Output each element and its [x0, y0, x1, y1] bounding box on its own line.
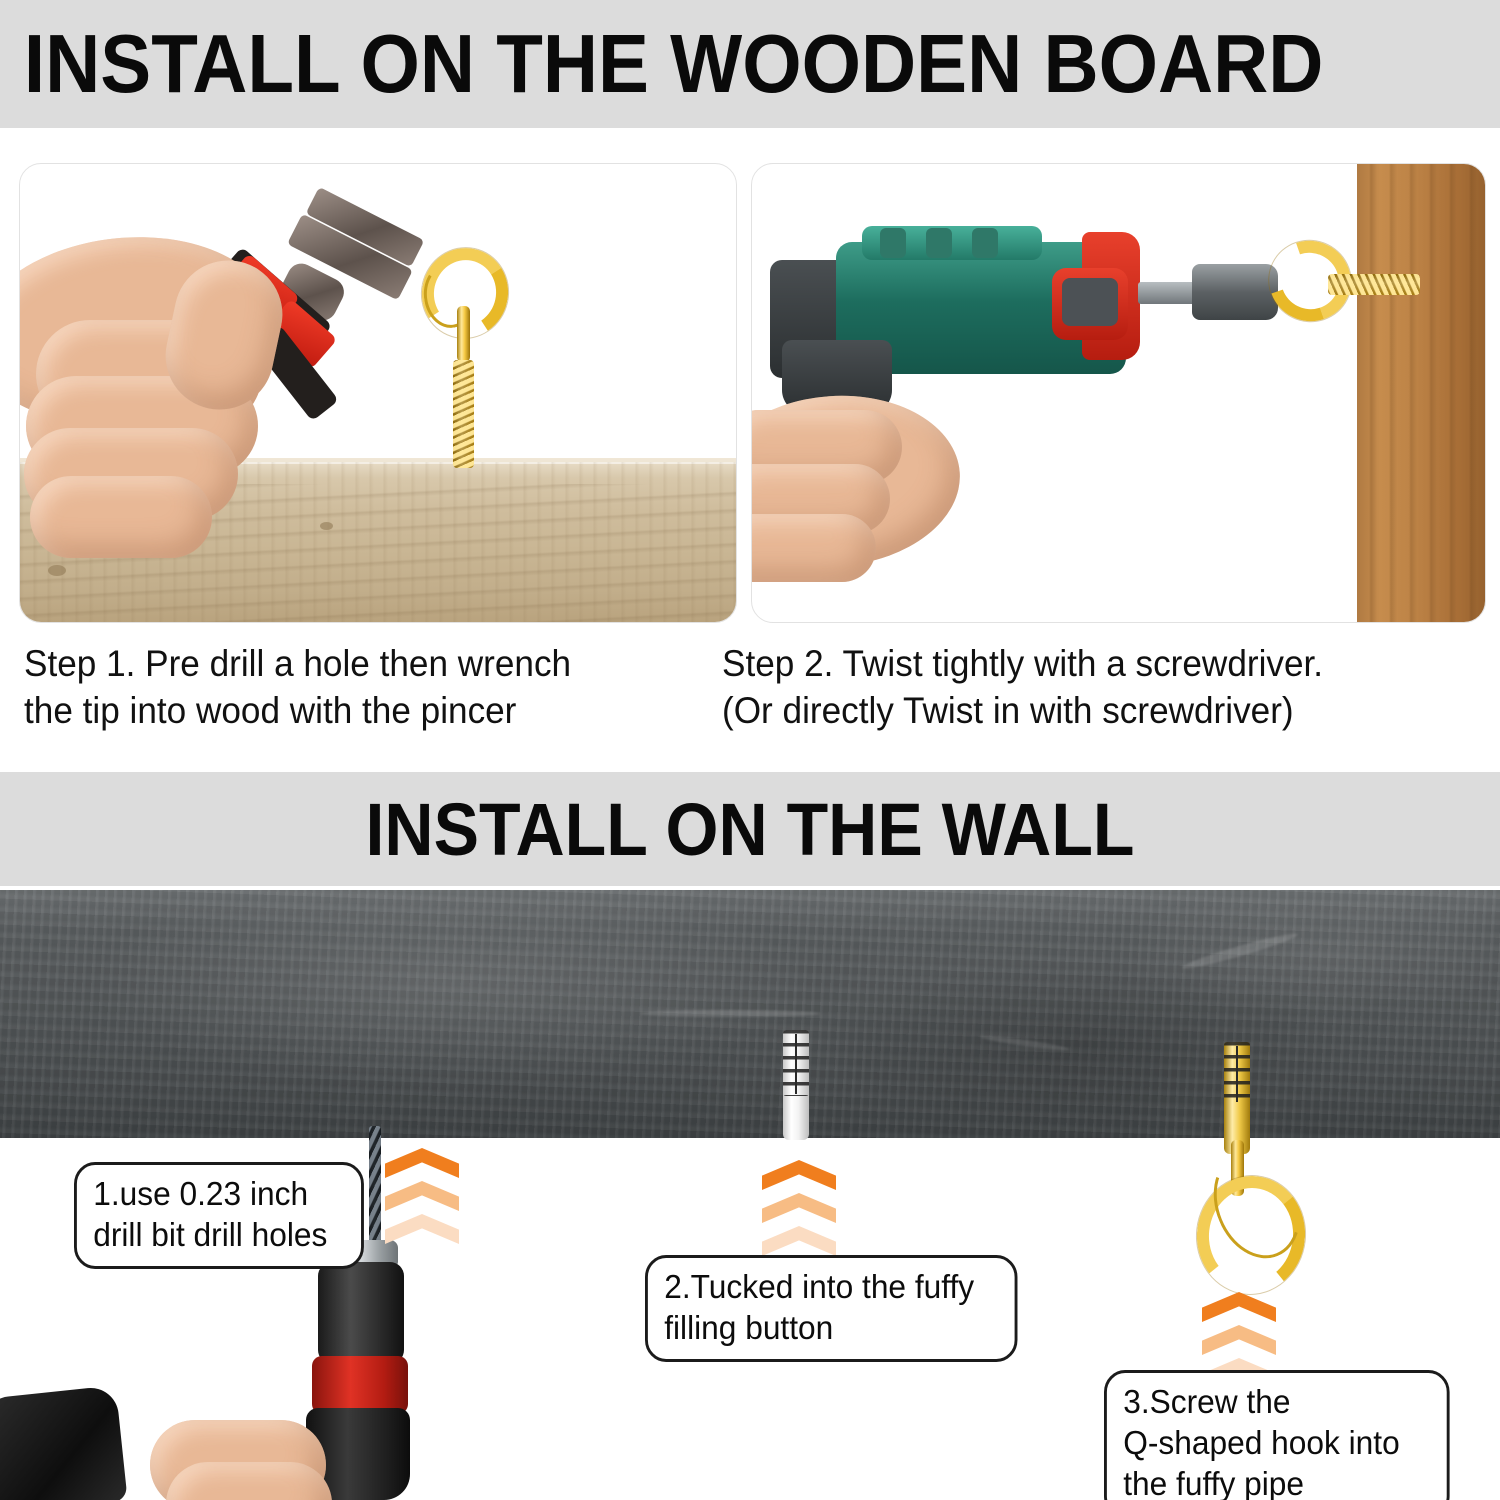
callout-wall-step-3: 3.Screw the Q-shaped hook into the fuffy… — [1104, 1370, 1450, 1500]
wall-scuff — [640, 1010, 820, 1017]
wall-anchor-slit — [1236, 1046, 1238, 1102]
drill-red-ring — [312, 1356, 408, 1414]
screwdriver-vent — [880, 228, 906, 258]
q-hook-shank — [457, 306, 470, 362]
finger-pinky — [30, 476, 212, 558]
step-2-photo-card — [751, 163, 1486, 623]
chevron-stack-step-2 — [762, 1160, 836, 1266]
section-title-wall: INSTALL ON THE WALL — [60, 787, 1440, 872]
concrete-wall — [0, 890, 1500, 1138]
wood-post — [1357, 164, 1485, 622]
callout-wall-step-2: 2.Tucked into the fuffy filling button — [645, 1255, 1017, 1362]
wall-anchor-gold — [1224, 1042, 1250, 1154]
screwdriver-vent — [972, 228, 998, 258]
chevron-up-icon — [385, 1148, 459, 1178]
screwdriver-shaft — [1138, 282, 1200, 304]
chevron-up-icon — [1202, 1325, 1276, 1355]
chevron-up-icon — [385, 1214, 459, 1244]
step-2-caption: Step 2. Twist tightly with a screwdriver… — [722, 640, 1454, 734]
drill-bit-icon — [369, 1126, 381, 1248]
screwdriver-chuck — [1192, 264, 1278, 320]
wall-scuff — [980, 1034, 1070, 1052]
wood-knot — [320, 522, 333, 530]
screwdriver-direction-switch[interactable] — [1062, 278, 1118, 326]
q-hook-threaded-tip — [453, 360, 474, 468]
wood-knot — [48, 565, 66, 576]
wall-scuff — [1181, 930, 1299, 973]
screwdriver-vent — [926, 228, 952, 258]
drill-battery-pack — [0, 1385, 128, 1500]
step-1-photo-card — [19, 163, 737, 623]
finger-middle — [166, 1462, 332, 1500]
board-captions: Step 1. Pre drill a hole then wrench the… — [0, 640, 1500, 760]
section-header-wall: INSTALL ON THE WALL — [0, 772, 1500, 886]
wall-anchor-white — [783, 1030, 809, 1140]
chevron-up-icon — [762, 1160, 836, 1190]
drill-chuck-collar — [318, 1262, 404, 1364]
finger-ring — [751, 514, 876, 582]
chevron-up-icon — [762, 1193, 836, 1223]
chevron-up-icon — [385, 1181, 459, 1211]
callout-wall-step-1: 1.use 0.23 inch drill bit drill holes — [74, 1162, 364, 1269]
board-photo-row — [0, 163, 1500, 623]
step-1-caption: Step 1. Pre drill a hole then wrench the… — [24, 640, 689, 734]
chevron-up-icon — [762, 1226, 836, 1256]
wall-anchor-slit — [795, 1034, 797, 1094]
instruction-infographic: INSTALL ON THE WOODEN BOARD — [0, 0, 1500, 1500]
q-hook-threaded-tip — [1328, 274, 1420, 295]
section-header-wooden-board: INSTALL ON THE WOODEN BOARD — [0, 0, 1500, 128]
chevron-stack-step-1 — [385, 1148, 459, 1254]
section-title-wooden-board: INSTALL ON THE WOODEN BOARD — [0, 16, 1380, 112]
chevron-up-icon — [1202, 1292, 1276, 1322]
